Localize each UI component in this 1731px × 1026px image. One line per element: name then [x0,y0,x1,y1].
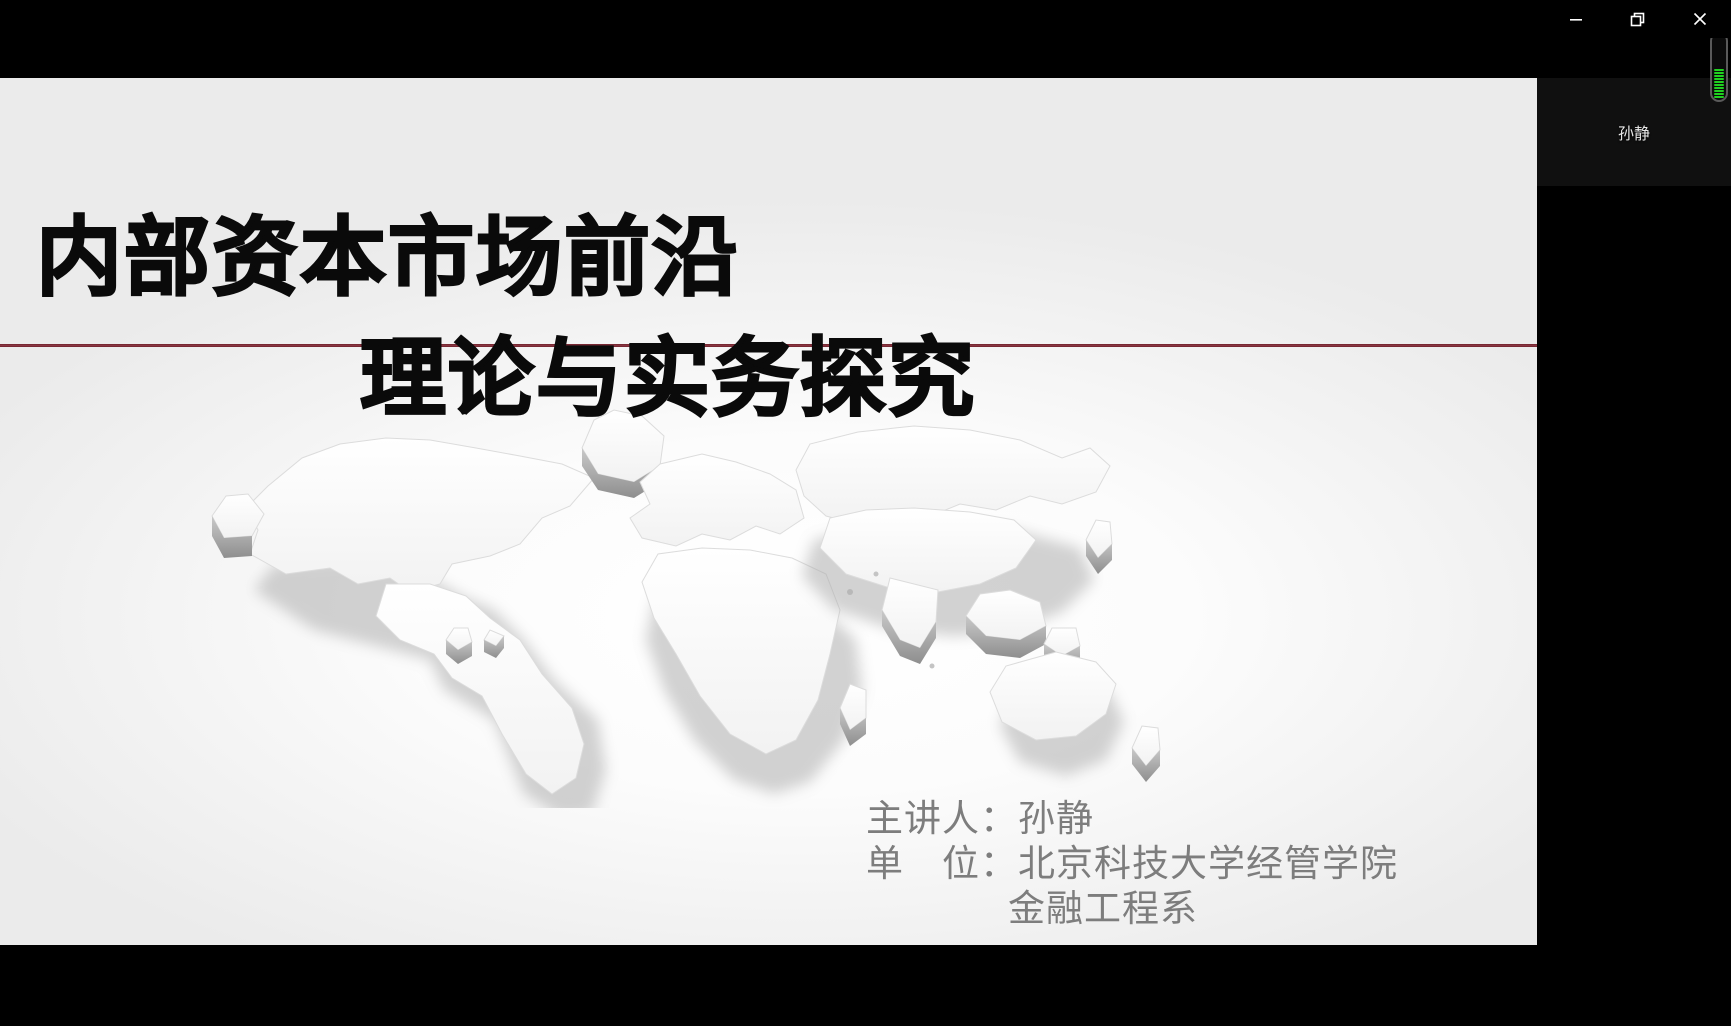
presenter-speaker-line: 主讲人：孙静 [866,796,1526,841]
world-map-3d-image [190,378,1220,808]
close-button[interactable] [1669,0,1731,38]
presenter-affiliation-line: 单 位：北京科技大学经管学院 [866,841,1526,886]
minimize-icon [1565,8,1587,30]
audio-level-meter [1710,32,1728,102]
presenter-info-block: 主讲人：孙静 单 位：北京科技大学经管学院 金融工程系 [866,796,1526,931]
restore-icon [1627,8,1649,30]
audio-level-segments [1714,68,1724,98]
minimize-button[interactable] [1545,0,1607,38]
restore-button[interactable] [1607,0,1669,38]
participant-panel: 孙静 [1537,38,1731,1026]
shared-slide[interactable]: 内部资本市场前沿 理论与实务探究 主讲人：孙静 单 位：北京科技大学经管学院 金… [0,78,1537,945]
slide-title-line-2: 理论与实务探究 [360,336,976,422]
window-titlebar [0,0,1731,38]
slide-title-line-1: 内部资本市场前沿 [36,215,740,301]
meeting-stage: 内部资本市场前沿 理论与实务探究 主讲人：孙静 单 位：北京科技大学经管学院 金… [0,0,1731,1026]
participant-name: 孙静 [1618,120,1650,144]
presenter-affiliation-line-2: 金融工程系 [866,886,1526,931]
close-icon [1689,8,1711,30]
participant-tile[interactable]: 孙静 [1537,78,1731,186]
